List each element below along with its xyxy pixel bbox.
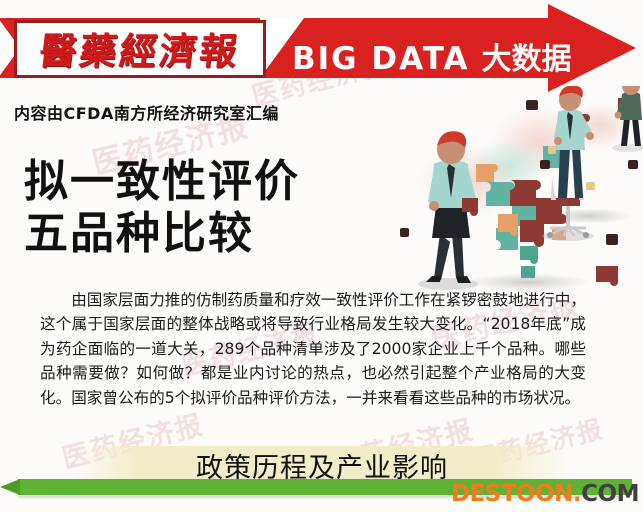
- big-data-en: BIG DATA: [292, 41, 469, 77]
- header-banner: 醫藥經濟報 BIG DATA大数据: [0, 4, 643, 90]
- green-ribbon-tail: [0, 479, 20, 495]
- page-root: 医药经济报 医药经济报 医药经济报 医药经济报 医药经济报 医药经济报 医药经济…: [0, 0, 643, 512]
- destoon-dot: .: [573, 481, 581, 507]
- destoon-brand: DESTOON: [451, 481, 573, 507]
- page-title: 拟一致性评价 五品种比较: [24, 156, 300, 260]
- publication-logo-text: 醫藥經濟報: [37, 21, 244, 75]
- destoon-watermark: DESTOON.COM: [451, 481, 639, 507]
- puzzle-illustration-svg: [400, 86, 643, 301]
- page-title-line2: 五品种比较: [24, 208, 300, 260]
- big-data-title: BIG DATA大数据: [292, 34, 571, 78]
- article-paragraph: 由国家层面力推的仿制药质量和疗效一致性评价工作在紧锣密鼓地进行中，这个属于国家层…: [40, 288, 586, 410]
- source-credit: 内容由CFDA南方所经济研究室汇编: [14, 100, 279, 124]
- puzzle-illustration: [400, 86, 643, 301]
- big-data-cn: 大数据: [481, 42, 571, 77]
- destoon-tld: COM: [581, 481, 639, 507]
- publication-logo: 醫藥經濟報: [14, 20, 266, 78]
- page-title-line1: 拟一致性评价: [24, 156, 300, 208]
